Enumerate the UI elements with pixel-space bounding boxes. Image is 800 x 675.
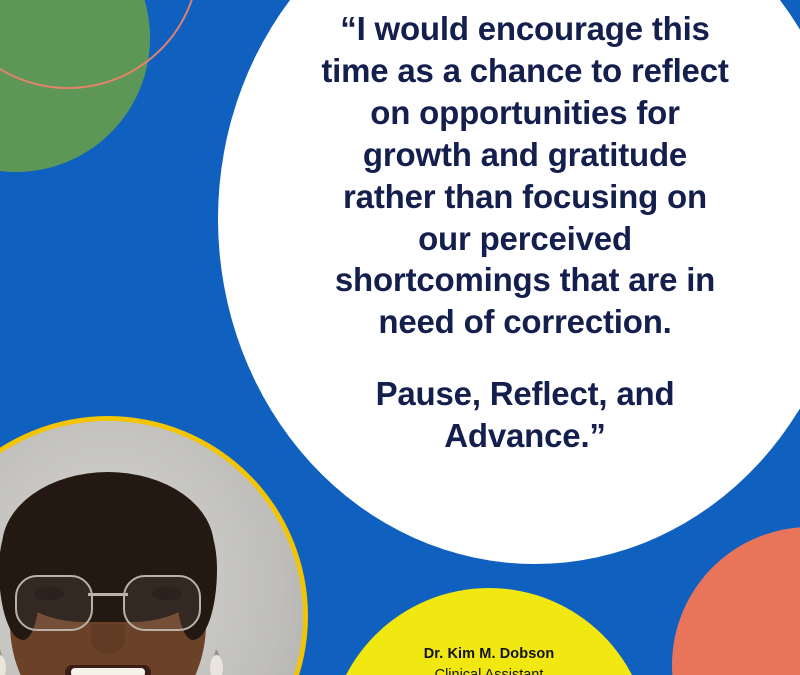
portrait-glasses-bridge [88, 593, 128, 596]
portrait-nose [91, 624, 125, 654]
coral-ring-decoration [0, 0, 200, 89]
portrait-mouth [65, 665, 151, 675]
attribution-name: Dr. Kim M. Dobson [328, 645, 650, 663]
attribution-title: Clinical Assistant [328, 666, 650, 675]
portrait-earring-right [210, 655, 223, 675]
quote-tagline-text: Pause, Reflect, and Advance.” [376, 373, 675, 457]
portrait-lens-left [15, 575, 93, 631]
portrait-photo [0, 421, 303, 675]
portrait-lens-right [123, 575, 201, 631]
quote-poster: “I would encourage this time as a chance… [0, 0, 800, 675]
portrait-teeth [71, 668, 145, 675]
quote-body-text: “I would encourage this time as a chance… [321, 8, 728, 343]
coral-circle-decoration [672, 527, 800, 675]
portrait-glasses [15, 575, 201, 629]
portrait-photo-frame [0, 416, 308, 675]
attribution-block: Dr. Kim M. Dobson Clinical Assistant [328, 645, 650, 675]
quote-content: “I would encourage this time as a chance… [270, 0, 780, 470]
